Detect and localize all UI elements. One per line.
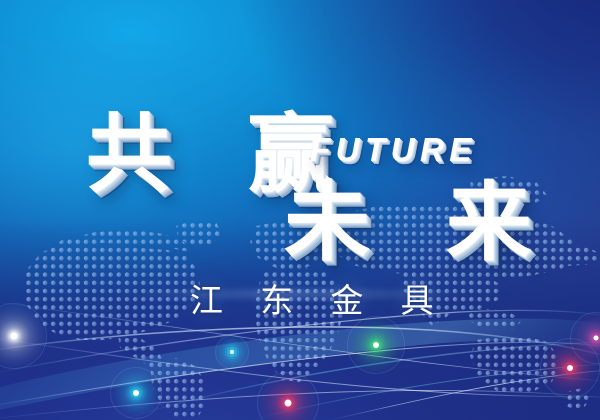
company-name: 江 东 金 具 xyxy=(190,274,448,322)
headline-line-2: 未 来 xyxy=(284,180,558,266)
headline-future-word: FUTURE xyxy=(310,131,477,169)
promo-banner: 共 赢 FUTURE 未 来 江 东 金 具 xyxy=(0,0,600,420)
